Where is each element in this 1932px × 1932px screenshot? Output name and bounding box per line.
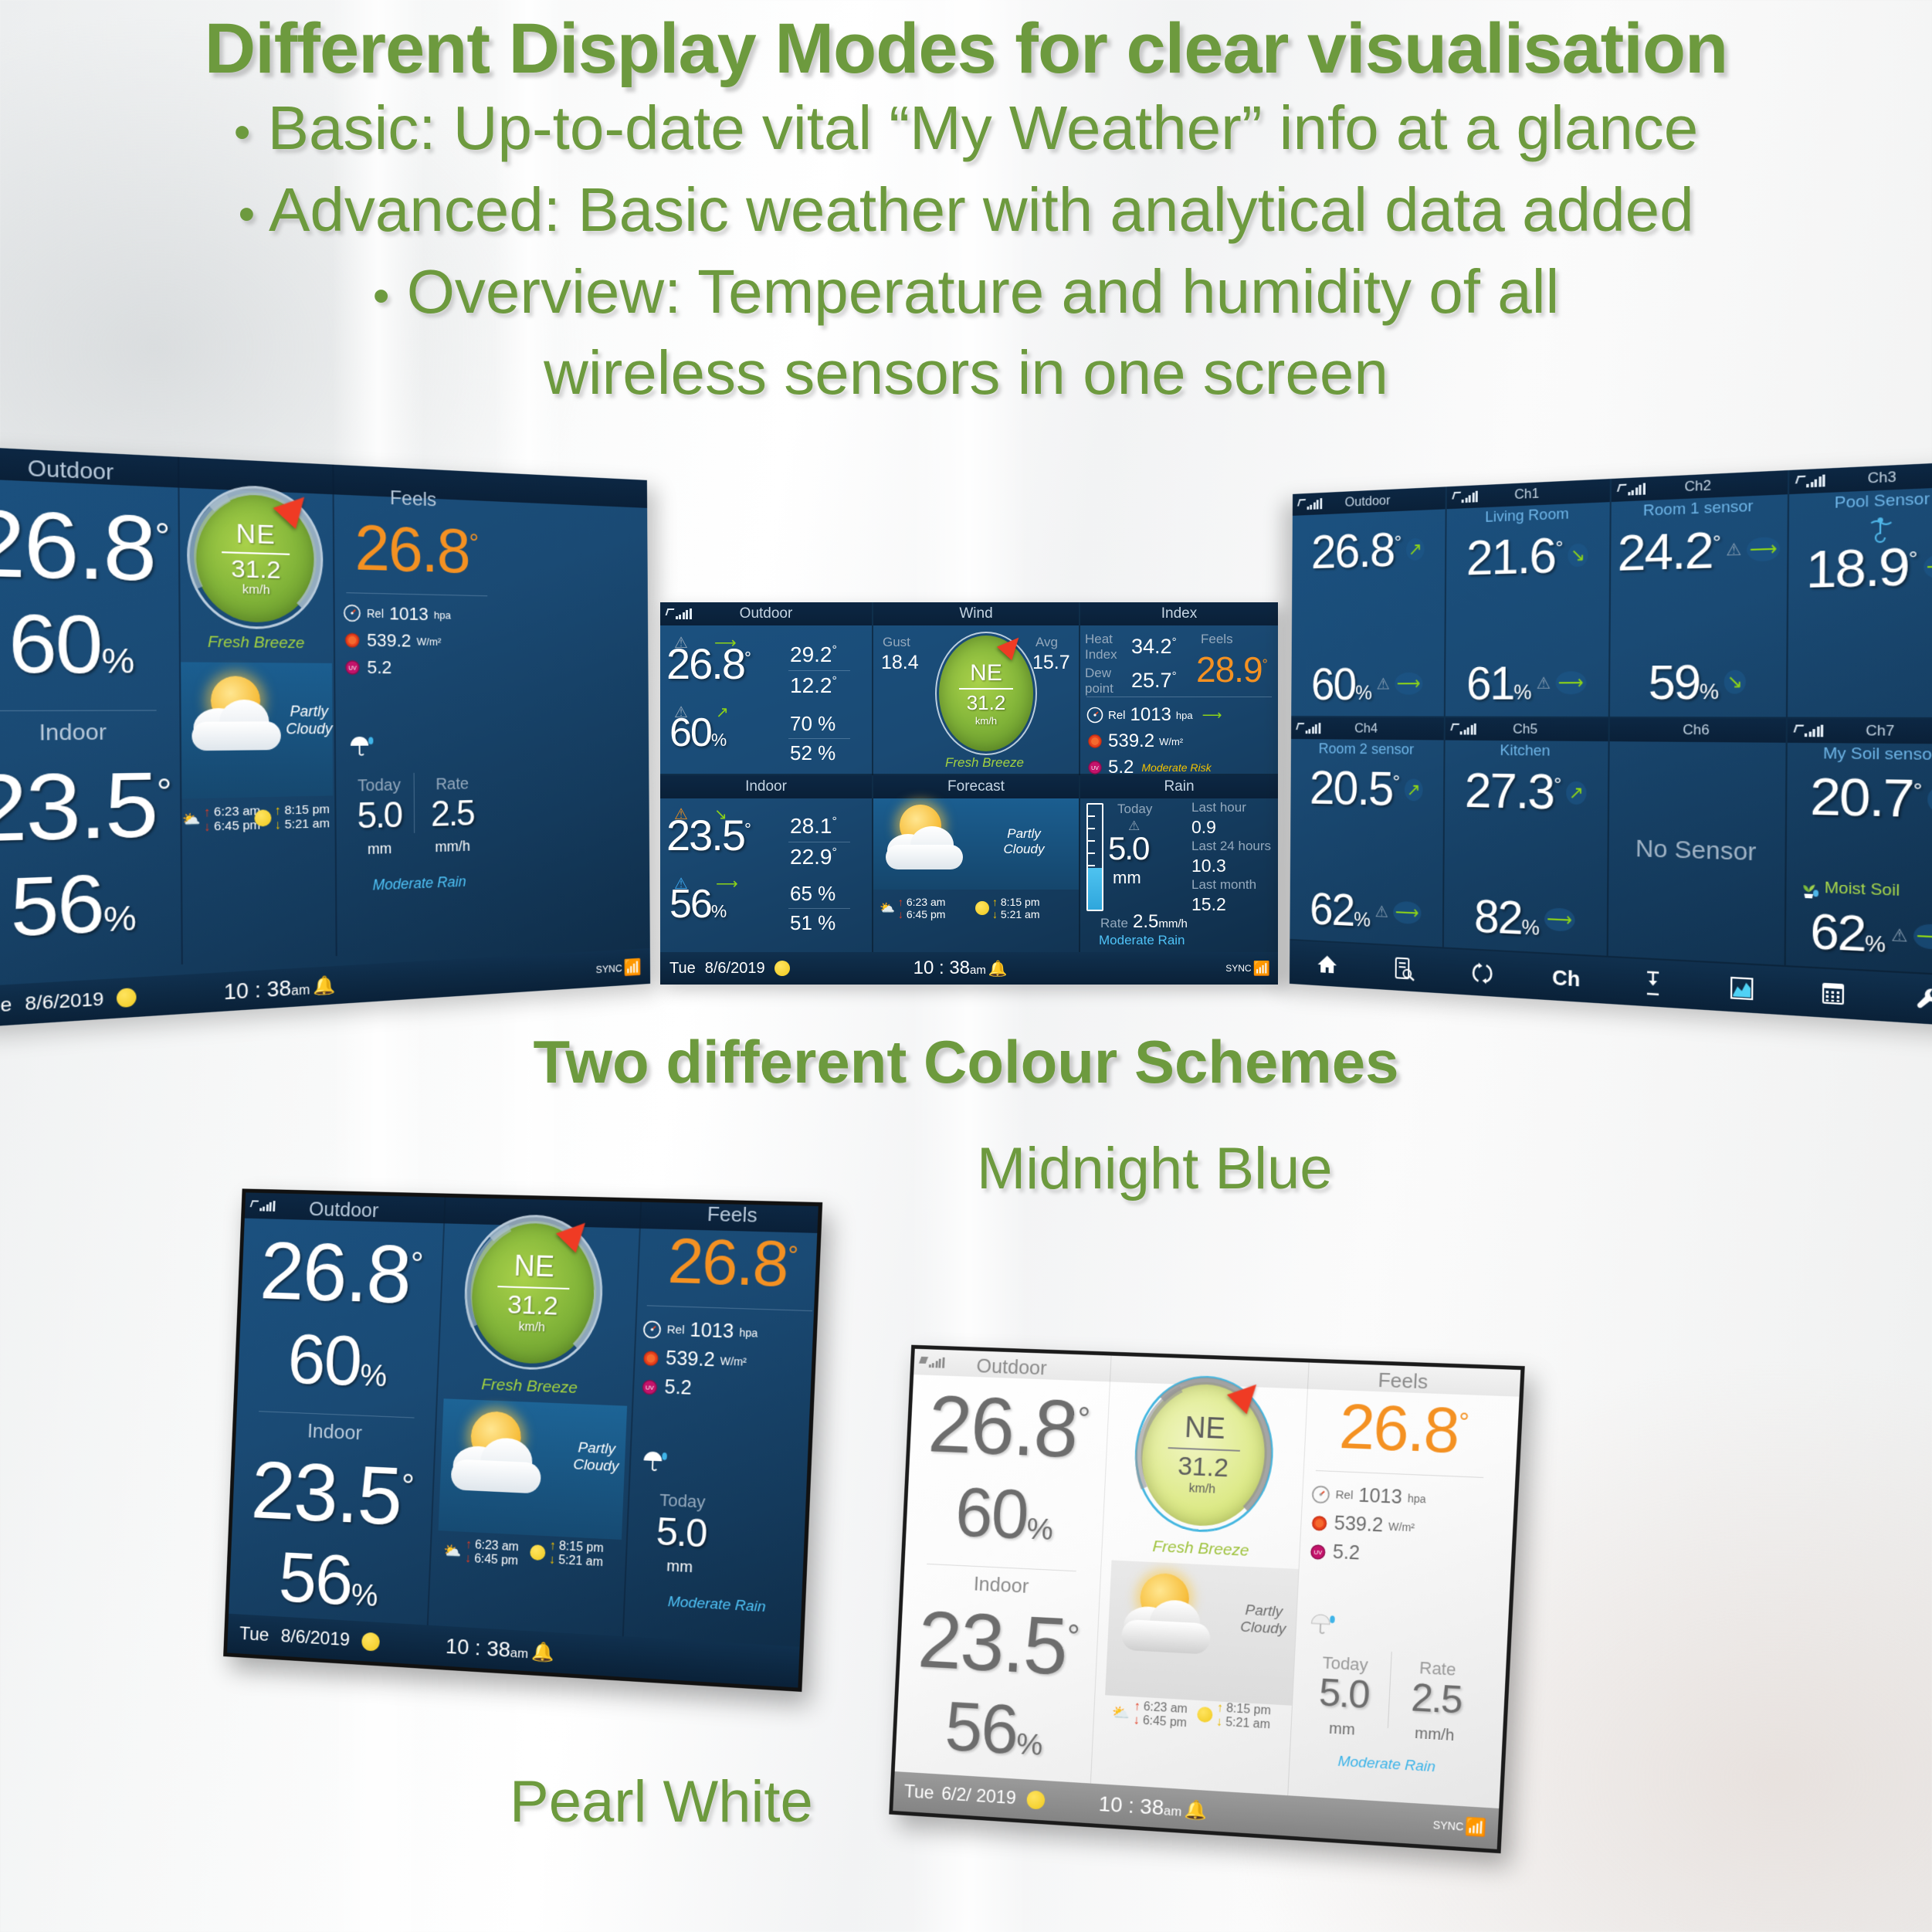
calendar-icon[interactable] [1820,981,1846,1006]
wind-description: Fresh Breeze [453,1374,607,1399]
overview-temp-trend-icon: ↗ [1928,787,1932,812]
rain-last-24h-label: Last 24 hours [1191,839,1271,854]
overview-temp-trend-icon: ↗ [1566,781,1586,804]
overview-temperature: 21.6° [1466,532,1564,581]
overview-humidity: 61% [1466,662,1532,705]
overview-humidity: 59% [1648,659,1719,705]
chart-icon[interactable] [1729,976,1754,1002]
feels-temperature: 26.8° [341,510,492,588]
outdoor-humidity: 60% [8,597,135,690]
channel-icon[interactable]: Ch [1552,964,1581,991]
indoor-humidity: 56% [669,886,727,924]
overview-cell[interactable]: Ch2Room 1 sensor24.2°⚠⟶59%↘ [1610,470,1789,719]
moonrise-time: 8:15 pm [1226,1702,1271,1717]
indoor-hum-high: 65 % [790,882,836,906]
overview-hum-trend-icon: ⟶ [1544,908,1574,932]
partly-cloudy-icon [445,1404,564,1517]
rain-today-label: Today [344,776,414,796]
overview-channel-label: Ch1 [1514,486,1539,503]
barometer-icon [1311,1484,1330,1503]
solar-value: 539.2 [1334,1512,1384,1537]
gust-value: 18.4 [881,652,919,674]
overview-no-sensor: No Sensor [1608,741,1785,965]
heat-index-value: 34.2° [1131,635,1177,659]
wind-speed-unit: km/h [242,582,270,597]
sunrise-time: 6:23 am [214,804,260,819]
headline-block: Different Display Modes for clear visual… [0,11,1932,414]
signal-strength-icon [1296,723,1320,734]
signal-strength-icon [1796,475,1825,488]
clock-time: 10 : 38am [224,974,310,1005]
solar-value: 539.2 [367,630,411,652]
solar-radiation-icon [343,631,361,649]
pressure-trend-icon: ⟶ [1202,707,1222,724]
overview-temp-trend-icon: ↗ [1405,778,1423,801]
alarm-icon: 🔔 [1185,1798,1208,1822]
bullet-overview: • Overview: Temperature and humidity of … [0,251,1932,414]
rain-today-unit: mm [632,1556,727,1579]
wind-dial: NE 31.2 km/h [462,1213,605,1372]
solar-radiation-icon [641,1348,660,1368]
overview-cell-header: Ch4 [1291,717,1443,740]
pressure-value: 1013 [690,1319,734,1343]
moon-icon [1197,1707,1213,1723]
partly-cloudy-icon [883,802,983,888]
overview-temp-trend-icon: ↗ [1406,537,1425,561]
uv-index-icon: UV [1308,1542,1327,1561]
wind-dial: NE 31.2 km/h [935,632,1037,755]
sunrise-time: 6:23 am [1143,1700,1188,1716]
indoor-temp-low: 22.9° [790,845,837,869]
panel-header-wind: Wind [873,602,1079,625]
device-pearl-white: Outdoor 26.8° 60% Indoor 23.5° 56% NE 31… [889,1345,1524,1854]
moonset-time: 5:21 am [1225,1716,1270,1731]
rain-today-value: 5.0 [344,799,414,834]
date: 8/6/2019 [25,988,103,1015]
overview-sensor-name: Room 2 sensor [1291,741,1443,759]
overview-temperature: 20.7° [1810,772,1923,824]
sunset-time: 6:45 pm [474,1552,519,1568]
wind-description: Fresh Breeze [892,755,1077,771]
moonset-time: 5:21 am [558,1554,603,1569]
moon-phase-icon [1026,1790,1045,1809]
weekday: Tue [669,960,696,978]
overview-temperature: 18.9° [1805,541,1918,594]
overview-channel-label: Ch2 [1684,477,1711,495]
moonrise-time: 8:15 pm [284,802,329,818]
weekday: Tue [903,1781,934,1805]
sync-indicator: SYNC📶 [1225,961,1270,977]
soil-status-label: Moist Soil [1825,879,1900,900]
rain-rate-label: Rate [419,775,486,795]
indoor-temperature: 23.5° [0,752,172,862]
signal-strength-icon [1795,725,1824,737]
indoor-humidity: 56% [944,1689,1046,1771]
uv-index-icon: UV [344,659,361,677]
outdoor-temperature: 26.8° [666,644,751,684]
solar-value: 539.2 [1108,730,1154,752]
bullet-mark: • [238,188,255,241]
moonset-time: 5:21 am [1001,908,1040,920]
moon-icon [254,809,271,826]
moon-icon [530,1544,546,1561]
overview-humidity: 62% [1310,888,1371,933]
device-overview-mode: Outdoor26.8°↗60%⚠⟶Ch1Living Room21.6°↘61… [1290,461,1932,1027]
rain-description: Moderate Rain [344,873,494,896]
home-icon[interactable] [1317,952,1338,977]
overview-humidity: 62% [1810,908,1886,958]
uv-value: 5.2 [1108,757,1134,778]
partly-cloudy-icon [186,669,298,771]
overview-temperature: 20.5° [1310,765,1400,812]
sunrise-sunset-icon: ⛅ [1111,1703,1130,1723]
uv-index-icon: UV [640,1378,659,1397]
overview-temp-trend-icon: ↘ [1568,543,1588,567]
rain-gauge-icon [1086,803,1103,911]
svg-text:UV: UV [1313,1548,1322,1556]
pressure-unit: hpa [434,608,451,621]
moonset-time: 5:21 am [285,816,330,832]
overview-cell-header: Ch5 [1445,718,1608,742]
device-midnight-blue: Outdoor 26.8° 60% Indoor 23.5° 56% NE 31… [223,1188,822,1692]
panel-header-forecast: Forecast [873,775,1079,798]
pressure-label: Rel [367,607,384,620]
bullet-mark: • [373,269,390,322]
pressure-value: 1013 [1358,1484,1403,1509]
moon-icon [975,901,989,915]
moonrise-time: 8:15 pm [559,1540,604,1555]
clock-time: 10 : 38am [913,958,986,979]
bullet-basic-text: Basic: Up-to-date vital “My Weather” inf… [268,93,1699,162]
status-bar: Tue 8/6/2019 10 : 38am 🔔 SYNC📶 [0,948,650,1029]
overview-sensor-name: My Soil sensor [1787,744,1932,765]
overview-temp-trend-icon: ⟶ [1747,537,1780,561]
overview-channel-label: Ch5 [1513,721,1537,737]
outdoor-temperature: 26.8° [927,1379,1092,1476]
indoor-temperature: 23.5° [666,815,751,856]
overview-channel-label: Ch7 [1866,722,1894,740]
overview-cell-header: Ch7 [1787,719,1932,744]
rain-rate-unit: mm/h [1390,1724,1479,1747]
weekday: Tue [239,1623,269,1646]
label-midnight-blue: Midnight Blue [977,1135,1333,1202]
overview-hum-trend-icon: ⟶ [1555,672,1586,695]
sync-indicator: SYNC📶 [1432,1815,1487,1839]
uv-value: 5.2 [664,1376,692,1400]
uv-risk-label: Moderate Risk [1141,762,1211,774]
status-bar: Tue 6/2/ 2019 10 : 38am 🔔 SYNC📶 [893,1771,1499,1849]
date: 8/6/2019 [705,960,765,978]
signal-strength-icon [1452,491,1478,503]
rain-description: Moderate Rain [1099,933,1185,948]
overview-cell-header: Outdoor [1293,486,1445,516]
sunset-time: 6:45 pm [1142,1714,1187,1730]
overview-humidity: 82% [1474,894,1540,941]
outdoor-humidity: 60% [286,1320,389,1402]
overview-hum-alert-icon: ⚠ [1377,674,1391,694]
rain-umbrella-icon [347,734,375,759]
overview-hum-alert-icon: ⚠ [1891,924,1908,947]
overview-humidity: 60% [1311,663,1372,705]
clock-time: 10 : 38am [1098,1791,1182,1822]
overview-temperature: 24.2° [1617,526,1720,577]
avg-label: Avg [1035,635,1058,650]
uv-value: 5.2 [1332,1541,1361,1565]
overview-hum-trend-icon: ↘ [1724,670,1746,694]
overview-cell[interactable]: Ch6No Sensor [1608,718,1788,967]
wind-dial: NE 31.2 km/h [1131,1374,1276,1535]
sunrise-time: 6:23 am [907,896,946,908]
feels-temperature: 28.9° [1196,649,1268,690]
rain-rate-value: 2.5mm/h [1133,911,1188,933]
indoor-temperature: 23.5° [917,1595,1082,1693]
panel-header-index: Index [1080,602,1278,625]
bullet-overview-text: Overview: Temperature and humidity of al… [407,257,1560,408]
moon-phase-icon [361,1632,380,1652]
max-min-icon[interactable] [1642,970,1666,996]
overview-cell[interactable]: Ch4Room 2 sensor20.5°↗62%⚠⟶ [1290,717,1445,949]
forecast-description: Partly Cloudy [568,1439,624,1476]
outdoor-temperature: 26.8° [0,488,171,600]
dew-point-label: Dew point [1085,666,1122,696]
pressure-value: 1013 [389,603,429,625]
svg-text:UV: UV [348,664,357,671]
barometer-icon [642,1320,662,1339]
rain-today-value: 5.0 [1108,834,1148,864]
rain-umbrella-icon [1307,1612,1337,1638]
sync-indicator: SYNC📶 [595,957,641,979]
barometer-icon [343,604,361,622]
bullet-advanced: • Advanced: Basic weather with analytica… [0,169,1932,251]
rain-rate-value: 2.5 [419,798,486,832]
rain-last-hour-label: Last hour [1191,800,1246,815]
outdoor-temp-low: 12.2° [790,673,837,698]
overview-temp-alert-icon: ⚠ [1726,539,1741,561]
alarm-icon: 🔔 [531,1640,555,1664]
rain-last-month-label: Last month [1191,877,1256,893]
overview-temperature: 26.8° [1311,527,1402,575]
wind-direction: NE [236,517,275,550]
outdoor-temp-high: 29.2° [790,642,837,667]
outdoor-humidity: 60% [669,715,727,752]
overview-channel-label: Ch4 [1354,720,1378,736]
panel-header-rain: Rain [1080,775,1278,798]
outdoor-hum-high: 70 % [790,712,836,736]
outdoor-hum-low: 52 % [790,741,836,765]
rain-today-value: 5.0 [1300,1673,1388,1714]
overview-cell-header: Ch6 [1610,718,1786,743]
outdoor-humidity: 60% [954,1474,1056,1554]
overview-channel-label: Ch3 [1867,469,1896,487]
moon-phase-icon [774,961,790,976]
forecast-description: Partly Cloudy [997,826,1051,856]
overview-cell[interactable]: Ch1Living Room21.6°↘61%⚠⟶ [1445,479,1612,718]
overview-channel-label: Outdoor [1345,493,1391,510]
moonrise-time: 8:15 pm [1001,896,1040,908]
overview-cell[interactable]: Outdoor26.8°↗60%⚠⟶ [1291,486,1446,717]
rain-description: Moderate Rain [1293,1751,1480,1778]
indoor-humidity: 56% [10,856,137,953]
feels-temperature: 26.8° [1310,1389,1498,1469]
overview-temperature: 27.3° [1465,768,1562,815]
indoor-temp-high: 28.1° [790,814,837,839]
rain-today-unit: mm [344,839,414,859]
rain-rate-unit: mm/h [419,837,486,856]
overview-temp-trend-icon: ⟶ [1924,553,1932,578]
overview-hum-alert-icon: ⚠ [1537,673,1551,693]
sunset-time: 6:45 pm [214,819,260,834]
rain-today-unit: mm [1113,868,1141,888]
sunrise-sunset-icon: ⛅ [443,1541,462,1561]
rain-last-24h-value: 10.3 [1191,856,1226,876]
wind-dial: NE 31.2 km/h [187,483,324,629]
indoor-temperature: 23.5° [249,1443,415,1543]
heat-index-label: Heat Index [1085,632,1122,662]
avg-value: 15.7 [1032,652,1070,674]
status-bar: Tue 8/6/2019 10 : 38am 🔔 SYNC📶 [660,952,1278,985]
wind-description: Fresh Breeze [1124,1536,1278,1561]
clock-time: 10 : 38am [445,1634,529,1663]
alarm-icon: 🔔 [313,974,335,998]
feels-temperature: 26.8° [641,1224,822,1303]
outdoor-temperature: 26.8° [259,1224,425,1321]
forecast-description: Partly Cloudy [286,703,333,737]
overview-hum-trend-icon: ⟶ [1393,901,1422,924]
date: 6/2/ 2019 [941,1784,1017,1810]
alarm-icon: 🔔 [988,959,1008,978]
overview-hum-alert-icon: ⚠ [1375,902,1388,922]
rain-rate-label: Rate [1100,916,1128,931]
panel-header-indoor: Indoor [660,775,872,798]
rain-rate-value: 2.5 [1391,1679,1482,1720]
outdoor-label: Outdoor [245,1195,445,1224]
indoor-hum-low: 51 % [790,911,836,935]
overview-cell[interactable]: Ch3Pool Sensor18.9°⟶ [1787,461,1932,719]
solar-value: 539.2 [666,1347,716,1372]
overview-channel-label: Ch6 [1683,722,1710,739]
overview-cell-header: Ch3 [1789,461,1932,494]
rain-umbrella-icon [640,1449,669,1475]
rain-today-unit: mm [1298,1718,1386,1741]
sunset-time: 6:45 pm [907,908,946,920]
panel-header-outdoor: Outdoor [660,602,872,625]
overview-sensor-name: Kitchen [1445,742,1608,761]
status-bar: Tue 8/6/2019 10 : 38am 🔔 [227,1614,800,1688]
rain-today-label: Today [1117,802,1152,817]
solar-radiation-icon [1310,1513,1329,1533]
solar-radiation-icon [1086,733,1103,750]
barometer-icon [1086,707,1103,724]
overview-hum-trend-icon: ⟶ [1913,924,1932,950]
feels-label: Feels [1201,632,1233,647]
indoor-label: Indoor [0,718,180,747]
sync-refresh-icon[interactable] [1473,961,1493,986]
rain-description: Moderate Rain [626,1591,808,1618]
rain-last-hour-value: 0.9 [1191,817,1216,838]
forecast-description: Partly Cloudy [1235,1602,1292,1638]
bullet-mark: • [234,106,251,159]
rain-today-value: 5.0 [634,1513,729,1554]
weekday: Tue [0,993,12,1019]
signal-strength-icon [666,608,692,619]
sunrise-time: 6:23 am [475,1538,520,1554]
svg-text:UV: UV [1091,766,1099,771]
solar-unit: W/m² [417,635,442,647]
section-subtitle: Two different Colour Schemes [0,1027,1932,1097]
channel-button-label: Ch [1552,964,1581,991]
label-pearl-white: Pearl White [510,1768,813,1835]
pressure-value: 1013 [1130,704,1171,726]
date: 8/6/2019 [280,1625,350,1651]
sunrise-sunset-icon: ⛅ [880,900,895,916]
wind-description: Fresh Breeze [188,633,324,653]
uv-index-icon: UV [1086,759,1103,776]
bullet-basic: • Basic: Up-to-date vital “My Weather” i… [0,87,1932,169]
settings-wrench-icon[interactable] [1914,985,1932,1013]
bullet-advanced-text: Advanced: Basic weather with analytical … [269,175,1694,244]
device-basic-mode: Outdoor 26.8° 60% Indoor 23.5° 56% NE [0,446,650,1029]
wind-speed: 31.2 [231,554,281,585]
indoor-humidity: 56% [277,1538,380,1621]
signal-strength-icon [1451,724,1476,735]
soil-moisture-icon [1797,876,1820,900]
signal-strength-icon [1298,498,1321,510]
signal-strength-icon [1618,483,1645,496]
partly-cloudy-icon [1115,1565,1235,1679]
record-search-icon[interactable] [1394,956,1415,981]
sunrise-sunset-icon: ⛅ [182,811,201,829]
page-title: Different Display Modes for clear visual… [0,11,1932,87]
moon-phase-icon [117,988,137,1008]
overview-cell[interactable]: Ch7My Soil sensor20.7°↗Moist Soil62%⚠⟶ [1785,719,1932,978]
device-advanced-mode: Outdoor Wind Index Indoor Forecast Rain … [660,602,1278,985]
svg-text:UV: UV [646,1384,654,1391]
uv-value: 5.2 [367,657,391,679]
rain-last-month-value: 15.2 [1191,894,1226,915]
dew-point-value: 25.7° [1131,669,1177,693]
gust-label: Gust [883,635,910,650]
overview-cell[interactable]: Ch5Kitchen27.3°↗82%⟶ [1443,718,1610,958]
overview-hum-trend-icon: ⟶ [1395,673,1423,695]
